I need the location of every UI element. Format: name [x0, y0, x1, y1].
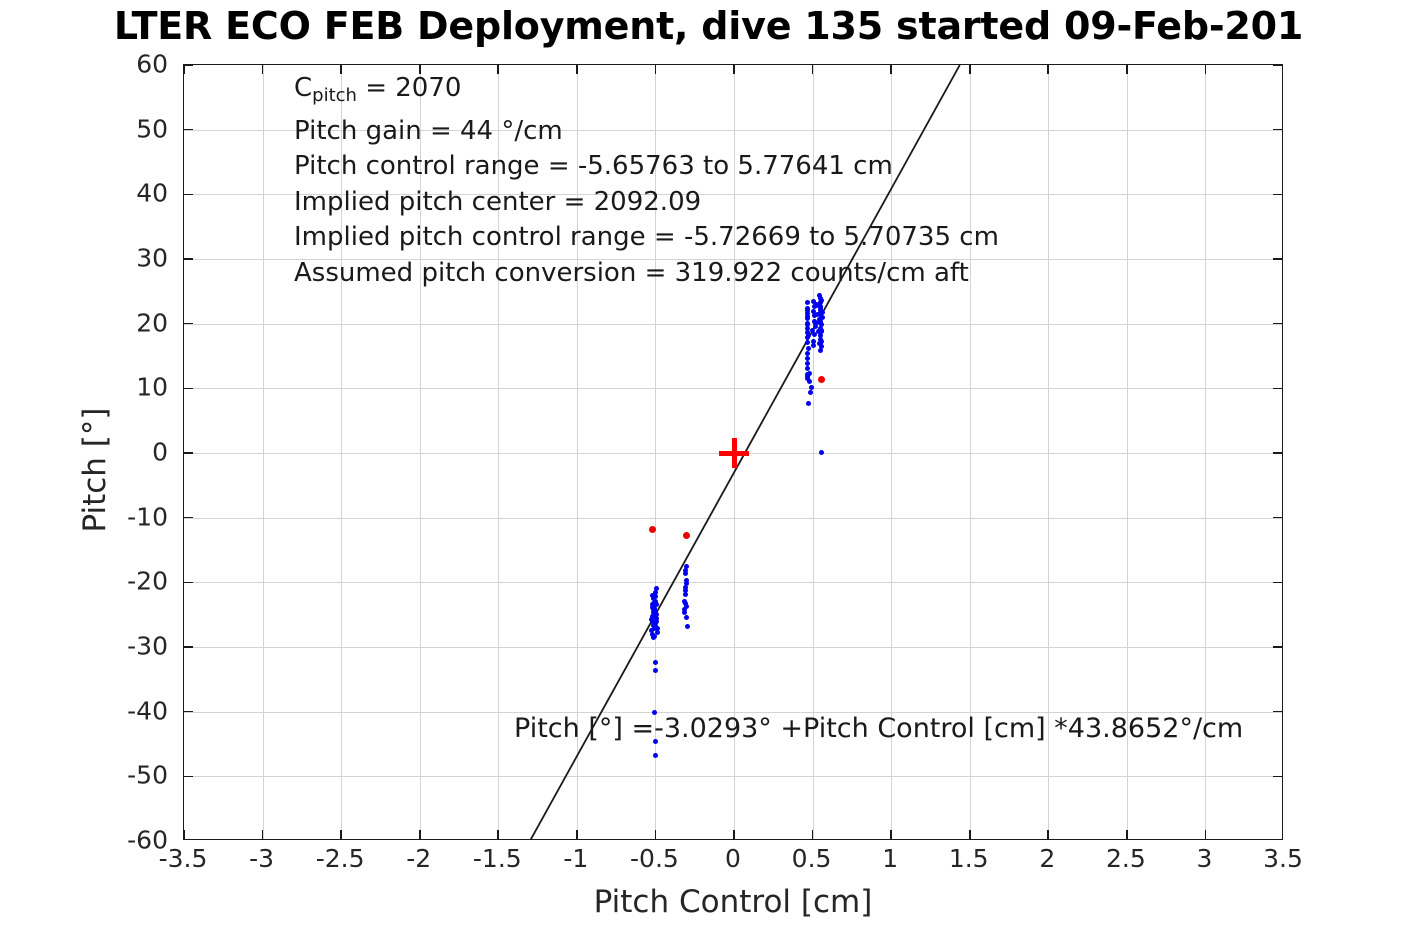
data-point: [654, 612, 659, 617]
data-point: [652, 634, 657, 639]
x-tick-label: -2.5: [316, 844, 365, 873]
data-point: [683, 588, 688, 593]
data-point: [683, 568, 688, 573]
x-tick-label: 1.5: [949, 844, 989, 873]
annotation-line-6: Assumed pitch conversion = 319.922 count…: [294, 256, 999, 292]
c-pitch-subscript: pitch: [312, 85, 357, 106]
x-tick-label: 3: [1196, 844, 1212, 873]
x-tick-label: 1: [882, 844, 898, 873]
data-point: [809, 385, 814, 390]
data-point: [653, 753, 658, 758]
x-tick-label: 0: [725, 844, 741, 873]
x-tick-label: -1: [563, 844, 588, 873]
data-point: [684, 615, 689, 620]
c-pitch-value: = 2070: [357, 73, 461, 103]
data-point: [806, 401, 811, 406]
data-point: [818, 376, 825, 383]
y-tick-label: 50: [0, 114, 168, 143]
y-axis-title: Pitch [°]: [77, 320, 113, 620]
annotation-line-1: Cpitch = 2070: [294, 71, 999, 114]
data-point: [807, 379, 812, 384]
y-tick-label: -30: [0, 632, 168, 661]
data-point: [805, 300, 810, 305]
data-point: [815, 312, 820, 317]
y-tick-label: 60: [0, 50, 168, 79]
x-tick-label: -3: [249, 844, 274, 873]
data-point: [805, 340, 810, 345]
annotation-line-3: Pitch control range = -5.65763 to 5.7764…: [294, 149, 999, 185]
x-tick-label: -1.5: [473, 844, 522, 873]
x-axis-title: Pitch Control [cm]: [183, 884, 1283, 920]
data-point: [820, 310, 825, 315]
x-tick-label: 2: [1039, 844, 1055, 873]
data-point: [654, 619, 659, 624]
y-tick-label: -50: [0, 761, 168, 790]
x-tick-label: 0.5: [792, 844, 832, 873]
plot-area: Cpitch = 2070 Pitch gain = 44 °/cm Pitch…: [183, 64, 1283, 840]
data-point: [820, 315, 825, 320]
regression-equation: Pitch [°] =-3.0293° +Pitch Control [cm] …: [514, 713, 1243, 744]
data-point: [819, 450, 824, 455]
data-point: [685, 624, 690, 629]
pitch-center-marker: [732, 438, 737, 468]
data-point: [818, 348, 823, 353]
data-point: [806, 333, 811, 338]
data-point: [811, 343, 816, 348]
data-point: [816, 329, 821, 334]
y-tick-label: 30: [0, 244, 168, 273]
x-tick-label: 2.5: [1106, 844, 1146, 873]
x-tick-label: -2: [406, 844, 431, 873]
c-pitch-symbol: C: [294, 73, 312, 103]
figure-title: LTER ECO FEB Deployment, dive 135 starte…: [0, 4, 1417, 48]
data-point: [653, 599, 658, 604]
data-point: [653, 624, 658, 629]
y-tick-label: -40: [0, 696, 168, 725]
data-point: [819, 298, 824, 303]
data-point: [649, 526, 656, 533]
data-point: [653, 660, 658, 665]
y-tick-label: -60: [0, 826, 168, 855]
x-tick-label: -0.5: [630, 844, 679, 873]
data-point: [653, 668, 658, 673]
annotation-line-4: Implied pitch center = 2092.09: [294, 185, 999, 221]
data-point: [806, 346, 811, 351]
annotation-line-2: Pitch gain = 44 °/cm: [294, 114, 999, 150]
data-point: [683, 532, 690, 539]
annotation-line-5: Implied pitch control range = -5.72669 t…: [294, 220, 999, 256]
parameter-annotation: Cpitch = 2070 Pitch gain = 44 °/cm Pitch…: [294, 71, 999, 291]
data-point: [684, 581, 689, 586]
y-tick-label: 40: [0, 179, 168, 208]
x-tick-label: 3.5: [1263, 844, 1303, 873]
data-point: [808, 390, 813, 395]
